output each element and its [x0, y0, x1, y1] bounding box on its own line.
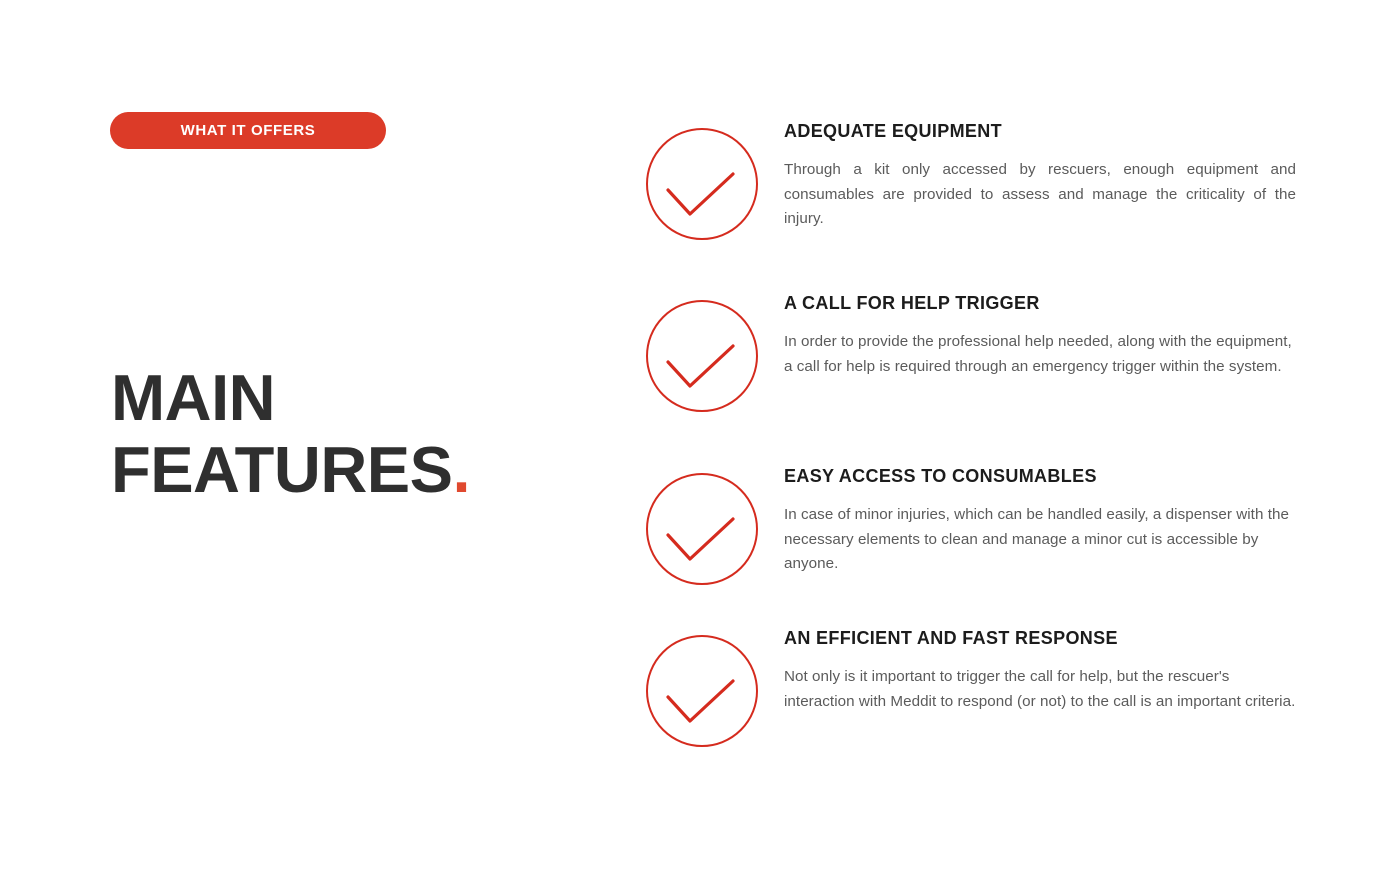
feature-heading: A CALL FOR HELP TRIGGER	[784, 292, 1296, 314]
feature-text-block: EASY ACCESS TO CONSUMABLES In case of mi…	[784, 465, 1296, 577]
feature-list: ADEQUATE EQUIPMENT Through a kit only ac…	[640, 0, 1320, 875]
feature-body: Not only is it important to trigger the …	[784, 649, 1296, 714]
feature-heading: EASY ACCESS TO CONSUMABLES	[784, 465, 1296, 487]
feature-text-block: ADEQUATE EQUIPMENT Through a kit only ac…	[784, 120, 1296, 232]
check-circle-icon	[646, 473, 758, 585]
check-circle-icon	[646, 300, 758, 412]
page-title-accent-dot: .	[452, 433, 470, 506]
feature-text-block: AN EFFICIENT AND FAST RESPONSE Not only …	[784, 627, 1296, 714]
page-title-line-1: MAIN	[111, 362, 591, 434]
page-title: MAIN FEATURES.	[111, 362, 591, 506]
feature-text-block: A CALL FOR HELP TRIGGER In order to prov…	[784, 292, 1296, 379]
eyebrow-pill-label: WHAT IT OFFERS	[181, 123, 316, 138]
feature-heading: ADEQUATE EQUIPMENT	[784, 120, 1296, 142]
feature-body: In order to provide the professional hel…	[784, 314, 1296, 379]
slide-canvas: WHAT IT OFFERS MAIN FEATURES. ADEQUATE E…	[0, 0, 1400, 875]
feature-body: In case of minor injuries, which can be …	[784, 487, 1296, 577]
check-circle-icon	[646, 635, 758, 747]
page-title-line-2: FEATURES	[111, 433, 452, 506]
check-circle-icon	[646, 128, 758, 240]
left-column: WHAT IT OFFERS MAIN FEATURES.	[110, 0, 610, 875]
feature-body: Through a kit only accessed by rescuers,…	[784, 142, 1296, 232]
feature-heading: AN EFFICIENT AND FAST RESPONSE	[784, 627, 1296, 649]
eyebrow-pill-what-it-offers[interactable]: WHAT IT OFFERS	[110, 112, 386, 149]
page-title-line-2-wrap: FEATURES.	[111, 434, 591, 506]
